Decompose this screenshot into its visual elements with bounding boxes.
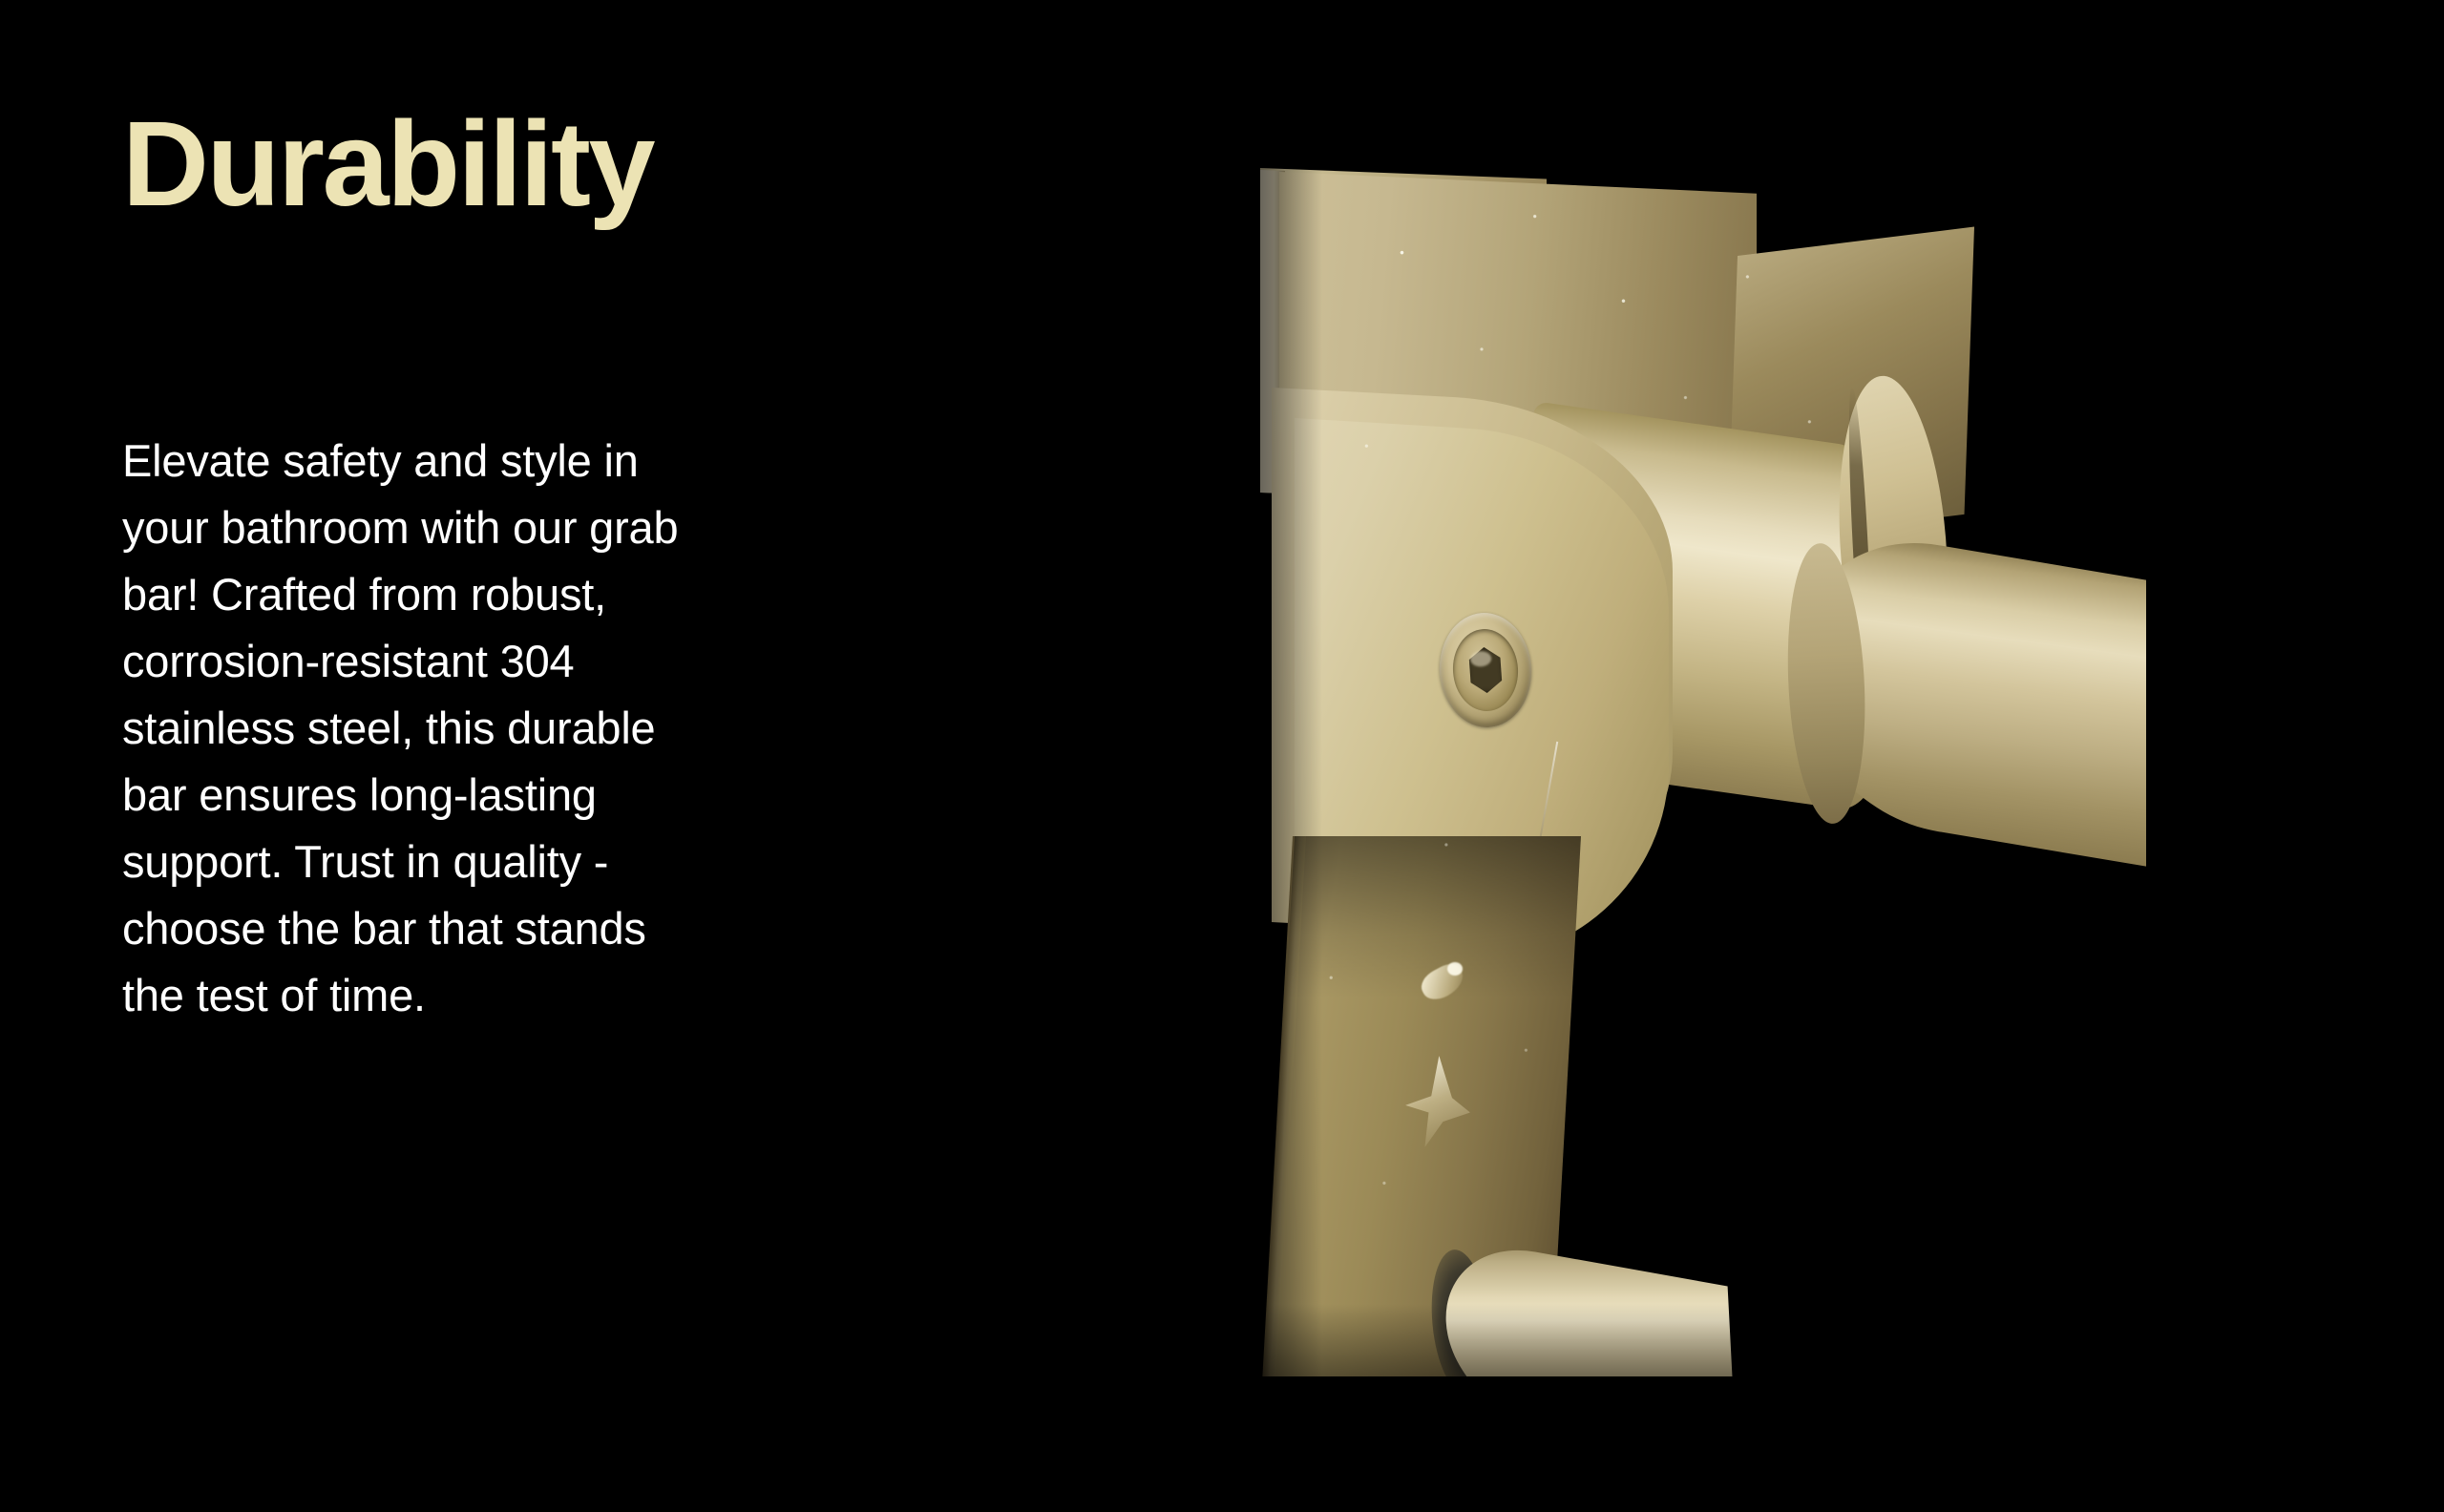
body-line: corrosion-resistant 304 xyxy=(122,628,886,695)
body-line: choose the bar that stands xyxy=(122,895,886,962)
text-panel: Durability Elevate safety and style in y… xyxy=(122,0,1001,1512)
body-line: bar! Crafted from robust, xyxy=(122,561,886,628)
post-highlight-dot xyxy=(1447,962,1463,976)
page-title: Durability xyxy=(122,99,653,229)
product-photo xyxy=(1260,168,2146,1376)
body-line: bar ensures long-lasting xyxy=(122,762,886,829)
product-photo-stage xyxy=(1260,168,2146,1376)
lower-tube-stub xyxy=(1442,1235,1737,1376)
body-line: Elevate safety and style in xyxy=(122,428,886,494)
body-line: support. Trust in quality - xyxy=(122,829,886,895)
body-line: the test of time. xyxy=(122,962,886,1029)
slide-root: Durability Elevate safety and style in y… xyxy=(0,0,2444,1512)
body-line: your bathroom with our grab xyxy=(122,494,886,561)
body-paragraph: Elevate safety and style in your bathroo… xyxy=(122,428,886,1029)
body-line: stainless steel, this durable xyxy=(122,695,886,762)
